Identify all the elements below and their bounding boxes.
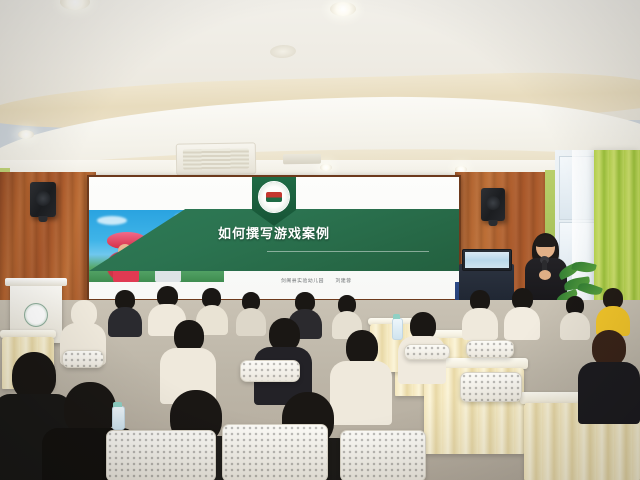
chair-back [466,340,514,358]
lectern-emblem [24,303,48,327]
speaker-cone [486,196,500,210]
presenter-fringe [535,235,556,247]
water-bottle [392,318,403,340]
slide-subtitle-presenter: 刘建蓉 [336,278,352,284]
speaker-bracket [39,216,48,222]
audience-member [108,290,142,334]
recessed-downlight [320,164,332,171]
ac-grille [183,148,249,169]
audience-member [462,290,498,338]
chair-back [404,344,450,360]
person-body [504,307,540,340]
person-body [108,307,142,337]
ceiling-ac-cassette [176,142,257,175]
chair-back [62,350,104,368]
photograph-scene: 如何撰写游戏案例 剑阁县实验幼儿园刘建蓉 [0,0,640,480]
lectern-top [5,278,67,286]
cloud [97,216,127,225]
crest-inner-mark [266,192,282,202]
bottle-cap [393,314,400,319]
chair-back [460,372,522,402]
audience-member [504,288,540,338]
slide-subtitle-org: 剑阁县实验幼儿园 [281,278,324,284]
chair-back [340,430,426,480]
bottle-cap [113,402,122,407]
wall-speaker-left [30,182,56,217]
person-head [346,330,378,365]
slide-divider-line [267,251,430,252]
crest-circle [258,181,290,213]
person-body [462,308,498,340]
speaker-bracket [489,220,498,226]
chair-back [240,360,300,382]
person-head [592,330,626,366]
wall-speaker-right [481,188,505,221]
recessed-downlight [18,130,34,139]
slide-subtitle: 剑阁县实验幼儿园刘建蓉 [281,277,352,284]
audience-member [596,288,630,334]
presentation-slide: 如何撰写游戏案例 剑阁县实验幼儿园刘建蓉 [89,177,459,299]
audience-member [160,320,216,400]
person-body [578,362,640,424]
chair-back [222,424,328,480]
projection-screen: 如何撰写游戏案例 剑阁县实验幼儿园刘建蓉 [87,175,461,301]
presenter-hand [539,270,551,280]
recessed-downlight [330,2,356,16]
laptop-display [465,252,509,268]
audience-member [578,330,640,422]
presenter-laptop [462,249,512,271]
ceiling-air-vent [283,154,321,165]
water-bottle [112,406,125,430]
speaker-cone [36,191,51,206]
chair-back [106,430,216,480]
